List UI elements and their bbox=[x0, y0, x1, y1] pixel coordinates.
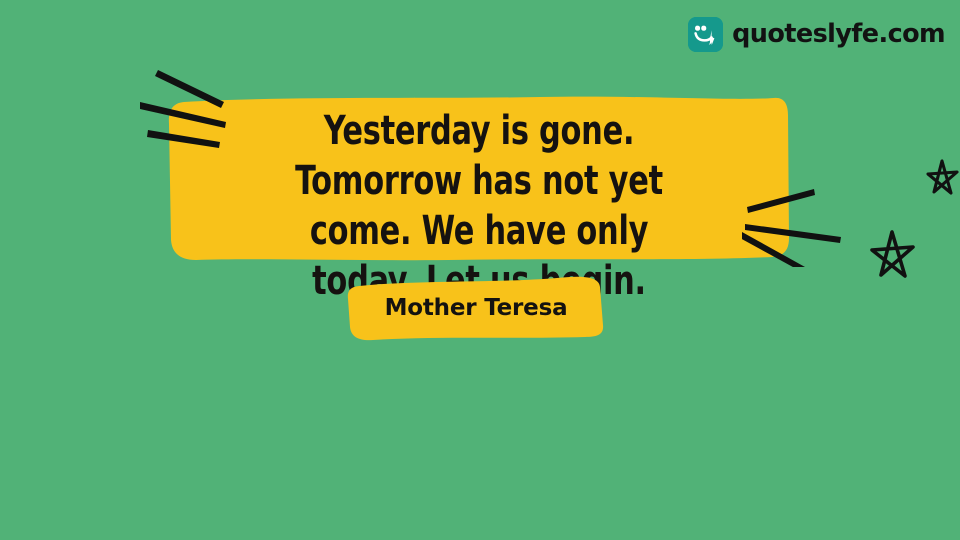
quote-poster: quoteslyfe.com Yesterday is gone. Tomorr… bbox=[0, 0, 960, 540]
brand-name-label: quoteslyfe.com bbox=[732, 22, 945, 48]
brand-watermark[interactable]: quoteslyfe.com bbox=[688, 17, 945, 52]
quote-card: Yesterday is gone. Tomorrow has not yet … bbox=[168, 88, 790, 264]
author-card: Mother Teresa bbox=[347, 275, 605, 342]
quote-smiley-logo-icon bbox=[688, 17, 723, 52]
star-icon bbox=[925, 158, 959, 198]
star-icon bbox=[868, 228, 916, 282]
author-name-label: Mother Teresa bbox=[347, 294, 605, 322]
